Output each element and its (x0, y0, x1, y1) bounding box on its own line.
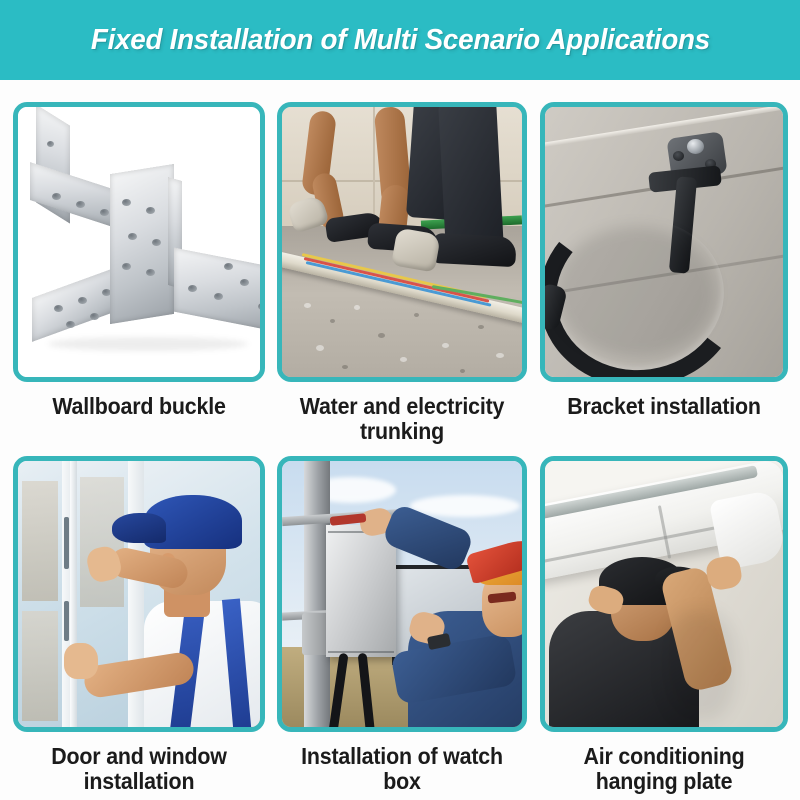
photo-wallboard-buckle (18, 107, 260, 377)
card-water-electricity-trunking[interactable]: Water and electricity trunking (277, 102, 527, 454)
photo-door-window-installation (18, 461, 260, 727)
photo-frame (540, 456, 788, 732)
caption-bracket-installation: Bracket installation (549, 394, 780, 419)
photo-frame (13, 456, 265, 732)
photo-frame (277, 102, 527, 382)
photo-frame (277, 456, 527, 732)
caption-watch-box-installation: Installation of watch box (286, 744, 519, 794)
photo-frame (13, 102, 265, 382)
photo-air-conditioning-hanging-plate (545, 461, 783, 727)
scenario-grid: Wallboard buckle (0, 80, 800, 800)
photo-watch-box-installation (282, 461, 522, 727)
card-door-window-installation[interactable]: Door and window installation (13, 456, 265, 786)
caption-door-window-installation: Door and window installation (22, 744, 256, 794)
page-title: Fixed Installation of Multi Scenario App… (90, 24, 709, 57)
card-air-conditioning-hanging-plate[interactable]: Air conditioning hanging plate (540, 456, 788, 786)
card-watch-box-installation[interactable]: Installation of watch box (277, 456, 527, 786)
card-wallboard-buckle[interactable]: Wallboard buckle (13, 102, 265, 454)
card-bracket-installation[interactable]: Bracket installation (540, 102, 788, 454)
product-feature-page: Fixed Installation of Multi Scenario App… (0, 0, 800, 800)
caption-wallboard-buckle: Wallboard buckle (22, 394, 256, 419)
photo-frame (540, 102, 788, 382)
header-banner: Fixed Installation of Multi Scenario App… (0, 0, 800, 80)
caption-air-conditioning-hanging-plate: Air conditioning hanging plate (549, 744, 780, 794)
caption-water-electricity-trunking: Water and electricity trunking (286, 394, 519, 444)
photo-water-electricity-trunking (282, 107, 522, 377)
photo-bracket-installation (545, 107, 783, 377)
